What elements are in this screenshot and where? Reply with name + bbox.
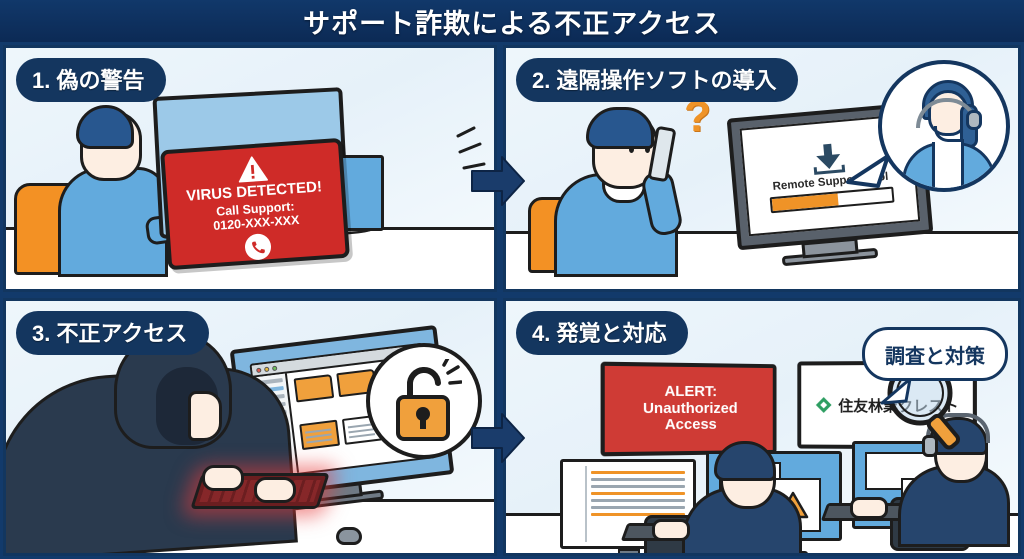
log-line — [591, 485, 685, 488]
log-line — [591, 499, 685, 502]
log-line — [591, 492, 685, 495]
alert-title: VIRUS DETECTED! — [186, 179, 323, 204]
arrow-step-1-to-2 — [470, 155, 526, 207]
victim-hair — [76, 105, 134, 149]
phone-icon — [250, 239, 266, 255]
sumitomo-logo-icon — [815, 396, 833, 414]
log-line — [591, 506, 685, 509]
warning-triangle-icon — [237, 155, 269, 183]
locked-document-icon[interactable] — [299, 419, 340, 449]
panel-unauthorized-access: 3. 不正アクセス — [3, 298, 497, 556]
panel-detection-response: ALERT: Unauthorized Access 住友林業クレスト 調査と対… — [503, 298, 1021, 556]
hacker-face — [188, 391, 222, 441]
alert-line-1: ALERT: — [664, 384, 717, 401]
phone-badge[interactable] — [244, 233, 272, 261]
maximize-icon[interactable] — [272, 365, 278, 371]
hacker-hand-left — [202, 465, 244, 491]
log-line — [591, 478, 685, 481]
download-progress-fill — [772, 193, 839, 211]
panel-fake-warning: VIRUS DETECTED! Call Support: 0120-XXX-X… — [3, 45, 497, 292]
analyst-hand — [850, 497, 888, 519]
folder-icon[interactable] — [294, 374, 335, 402]
victim-hair — [586, 107, 654, 149]
panel-4-label: 4. 発覚と対応 — [516, 311, 688, 355]
close-icon[interactable] — [256, 367, 262, 373]
bubble-tail — [880, 377, 914, 407]
log-sidebar — [567, 466, 587, 542]
unlocked-padlock-badge — [366, 343, 482, 459]
investigation-speech-bubble: 調査と対策 — [862, 327, 1008, 381]
fake-virus-alert-dialog[interactable]: VIRUS DETECTED! Call Support: 0120-XXX-X… — [160, 138, 350, 270]
analyst-hand — [652, 519, 690, 541]
log-line — [591, 471, 685, 474]
monitor-stand — [618, 549, 640, 556]
hacker-hand-right — [254, 477, 296, 503]
minimize-icon[interactable] — [264, 366, 270, 372]
speech-bubble-text: 調査と対策 — [885, 340, 985, 369]
page-title: サポート詐欺による不正アクセス — [303, 2, 721, 41]
title-bar: サポート詐欺による不正アクセス — [0, 0, 1024, 42]
bubble-tail — [844, 152, 890, 192]
panel-2-label: 2. 遠隔操作ソフトの導入 — [516, 58, 798, 102]
infographic-root: サポート詐欺による不正アクセス — [0, 0, 1024, 559]
panel-remote-tool-install: ? Remote Support Tool — [503, 45, 1021, 292]
headset-earcup — [966, 110, 982, 130]
panel-1-label: 1. 偽の警告 — [16, 58, 166, 102]
alert-line-2: Unauthorized — [643, 400, 738, 417]
alert-line-3: Access — [665, 417, 717, 434]
headset-mic — [934, 126, 964, 142]
unlocked-padlock-icon — [386, 359, 462, 443]
operator-shirt — [932, 142, 964, 192]
arrow-step-3-to-4 — [470, 412, 526, 464]
mouse — [336, 527, 362, 545]
download-icon — [810, 141, 847, 176]
fake-support-operator-bubble — [878, 60, 1010, 192]
panel-3-label: 3. 不正アクセス — [16, 311, 209, 355]
